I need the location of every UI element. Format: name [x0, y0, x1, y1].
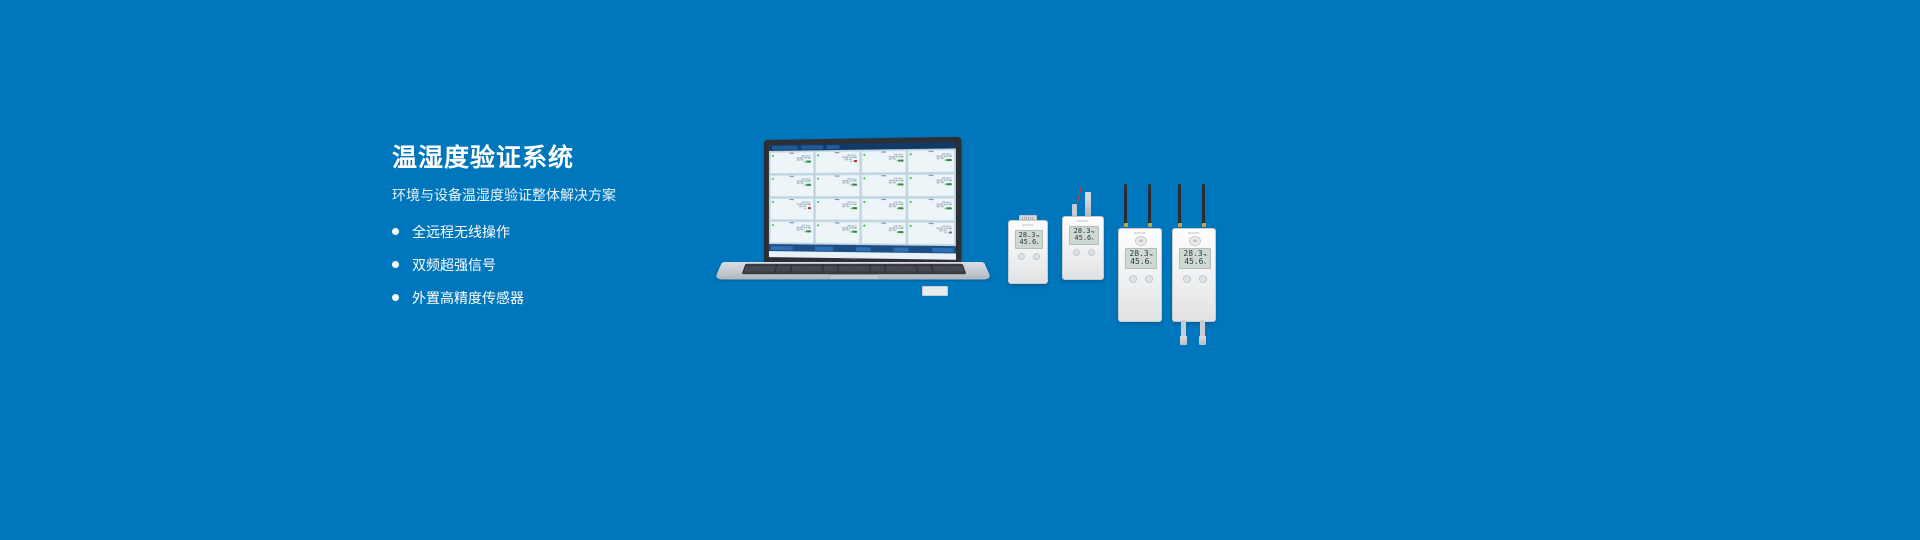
sensor-card[interactable]: 监测点温度28.3 ℃相对湿度45.6 %RH电量95%节点在线: [815, 198, 860, 221]
device-lcd-display: 28.3 ℃ 45.6 %: [1069, 226, 1099, 245]
antenna-icon: [1148, 184, 1151, 224]
sensor-card[interactable]: 监测点温度28.3 ℃相对湿度45.6 %RH电量95%节点在线: [815, 174, 860, 197]
sensor-row-value: 在线: [900, 186, 903, 188]
sensor-card[interactable]: 监测点温度28.3 ℃相对湿度45.6 %RH电量95%节点在线: [770, 151, 814, 174]
button-refresh[interactable]: [771, 246, 793, 250]
sensor-row-label: 节点: [896, 162, 899, 164]
sensor-card-row: 节点在线: [864, 233, 904, 236]
device-lcd-display: 28.3 ℃ 45.6 %: [1015, 230, 1043, 249]
button-settings[interactable]: [894, 247, 909, 251]
lcd-humidity-unit: %: [1204, 262, 1206, 265]
lcd-humidity-value: 45.6: [1074, 235, 1091, 242]
status-led-icon: [817, 224, 819, 226]
feature-label: 外置高精度传感器: [412, 288, 524, 308]
device-button-right[interactable]: [1199, 275, 1207, 283]
sensor-row-label: 电量: [939, 231, 942, 233]
sensor-row-label: 电量: [797, 184, 800, 186]
status-led-icon: [772, 178, 774, 180]
status-led-icon: [817, 178, 819, 180]
status-led-icon: [863, 154, 865, 156]
keyboard-key[interactable]: [759, 272, 774, 273]
laptop-spec-sticker: [922, 286, 948, 296]
sensor-card-row: 节点在线: [773, 186, 811, 188]
sensor-row-label: 节点: [896, 233, 899, 235]
sensor-card-row: 节点在线: [864, 186, 904, 188]
sensor-row-value: 在线: [853, 209, 856, 211]
sensor-row-value: 在线: [808, 163, 811, 165]
device-button-right[interactable]: [1088, 249, 1095, 256]
sensor-row-label: 节点: [896, 209, 899, 211]
page-title: 温湿度验证系统: [392, 143, 722, 173]
sensor-card-row: 节点在线: [773, 209, 811, 211]
feature-list: 全远程无线操作 双频超强信号 外置高精度传感器: [392, 222, 722, 308]
lcd-humidity-value: 45.6: [1184, 258, 1203, 266]
button-export[interactable]: [815, 246, 833, 250]
device-button-left[interactable]: [1073, 249, 1080, 256]
lcd-temperature-unit: ℃: [1091, 231, 1094, 234]
keyboard-key[interactable]: [902, 272, 917, 273]
page-subtitle: 环境与设备温湿度验证整体解决方案: [392, 187, 722, 204]
sensor-row-label: 节点: [804, 163, 807, 165]
antenna-icon: [1124, 184, 1127, 224]
sensor-row-label: 节点: [944, 210, 947, 212]
status-led-icon: [772, 224, 774, 226]
sensor-row-value: 在线: [853, 186, 856, 188]
device-body: ENKON 28.3 ℃ 45.6 %: [1008, 220, 1048, 284]
sensor-row-label: 电量: [936, 207, 939, 209]
laptop-screen: 监测点温度28.3 ℃相对湿度45.6 %RH电量95%节点在线监测点温度28.…: [769, 142, 956, 260]
lcd-humidity-unit: %: [1037, 242, 1039, 245]
keyboard-key[interactable]: [934, 272, 949, 273]
device-body: ENKON 28.3 ℃ 45.6 %: [1172, 228, 1216, 322]
sensor-row-label: 电量: [936, 159, 939, 161]
lcd-humidity-unit: %: [1092, 238, 1094, 241]
probe-sensor-cap: [1085, 192, 1091, 216]
device-wireless-logger-right: ENKON 28.3 ℃ 45.6 %: [1172, 186, 1216, 322]
sensor-row-label: 节点: [804, 209, 807, 211]
sensor-card-row: 节点在线: [911, 233, 952, 236]
sensor-card-row: 节点在线: [818, 162, 857, 165]
sensor-card[interactable]: 监测点温度28.3 ℃相对湿度45.6 %RH电量95%节点在线: [861, 221, 907, 244]
sensor-row-value: 在线: [900, 233, 903, 235]
probe-tip-left: [1180, 336, 1187, 345]
sensor-card-grid: 监测点温度28.3 ℃相对湿度45.6 %RH电量95%节点在线监测点温度28.…: [769, 148, 956, 246]
sensor-card[interactable]: 监测点温度28.3 ℃相对湿度45.6 %RH电量95%节点在线: [908, 149, 955, 172]
sensor-card-row: 节点在线: [818, 233, 857, 236]
sensor-row-label: 电量: [797, 230, 800, 232]
feature-item-1: 全远程无线操作: [392, 222, 722, 242]
keyboard-key[interactable]: [886, 272, 901, 273]
button-close[interactable]: [932, 247, 954, 251]
device-button-left[interactable]: [1183, 275, 1191, 283]
device-button-left[interactable]: [1129, 275, 1137, 283]
status-led-icon: [863, 201, 865, 203]
sensor-card[interactable]: 监测点温度28.3 ℃相对湿度45.6 %RH电量95%节点在线: [770, 221, 814, 244]
sensor-card[interactable]: 监测点温度28.3 ℃相对湿度45.6 %RH电量95%节点在线: [815, 151, 860, 174]
probe-connector: [1072, 204, 1077, 216]
sensor-row-label: 节点: [849, 162, 852, 164]
sensor-row-label: 电量: [889, 207, 892, 209]
sensor-row-label: 节点: [944, 234, 947, 236]
sensor-card[interactable]: 监测点温度28.3 ℃相对湿度45.6 %RH电量95%节点在线: [815, 221, 860, 244]
probe-tip-right: [1199, 336, 1206, 345]
promo-banner: 温湿度验证系统 环境与设备温湿度验证整体解决方案 全远程无线操作 双频超强信号 …: [0, 0, 1920, 540]
status-led-icon: [863, 177, 865, 179]
sensor-card[interactable]: 监测点温度28.3 ℃相对湿度45.6 %RH电量95%节点在线: [908, 222, 955, 245]
sensor-row-label: 电量: [842, 184, 845, 186]
antenna-icon: [1178, 184, 1181, 224]
sensor-row-label: 节点: [804, 186, 807, 188]
device-wireless-logger-left: ENKON 28.3 ℃ 45.6 %: [1118, 186, 1162, 322]
laptop-keyboard[interactable]: [742, 264, 967, 274]
device-brand-label: ENKON: [1119, 232, 1161, 235]
tab-report[interactable]: [826, 145, 839, 149]
sensor-row-value: 在线: [948, 234, 951, 236]
sensor-row-label: 节点: [944, 161, 947, 163]
device-button-right[interactable]: [1033, 253, 1040, 260]
laptop-illustration: 监测点温度28.3 ℃相对湿度45.6 %RH电量95%节点在线监测点温度28.…: [722, 140, 992, 300]
lcd-temperature-unit: ℃: [1036, 235, 1039, 238]
banner-copy: 温湿度验证系统 环境与设备温湿度验证整体解决方案 全远程无线操作 双频超强信号 …: [392, 143, 722, 321]
lcd-humidity-unit: %: [1150, 262, 1152, 265]
device-brand-label: ENKON: [1063, 220, 1103, 223]
sensor-card-row: 节点在线: [818, 186, 857, 188]
keyboard-key[interactable]: [775, 272, 790, 273]
keyboard-key[interactable]: [791, 272, 806, 273]
hanger-hole-icon: [1135, 236, 1147, 246]
sensor-card-row: 节点在线: [864, 209, 904, 211]
device-data-logger-external-probe: ENKON 28.3 ℃ 45.6 %: [1062, 214, 1104, 280]
antenna-icon: [1202, 184, 1205, 224]
sensor-row-value: 在线: [948, 161, 951, 163]
sensor-card-row: 节点在线: [911, 185, 952, 187]
bullet-dot-icon: [392, 228, 399, 235]
sensor-row-label: 节点: [849, 209, 852, 211]
status-led-icon: [817, 201, 819, 203]
lcd-humidity-value: 45.6: [1019, 239, 1036, 246]
sensor-card-row: 节点在线: [818, 209, 857, 211]
device-brand-label: ENKON: [1173, 232, 1215, 235]
sensor-card-row: 节点在线: [773, 163, 811, 166]
sensor-row-value: 在线: [948, 185, 951, 187]
device-brand-label: ENKON: [1009, 224, 1047, 227]
sensor-row-label: 节点: [804, 233, 807, 235]
feature-label: 全远程无线操作: [412, 222, 510, 242]
device-lcd-display: 28.3 ℃ 45.6 %: [1125, 248, 1157, 269]
feature-label: 双频超强信号: [412, 255, 496, 275]
sensor-row-label: 电量: [842, 231, 845, 233]
status-led-icon: [863, 225, 865, 227]
sensor-row-label: 节点: [849, 233, 852, 235]
feature-item-3: 外置高精度传感器: [392, 288, 722, 308]
sensor-card-row: 节点在线: [773, 232, 811, 235]
lcd-humidity-value: 45.6: [1130, 258, 1149, 266]
tab-history[interactable]: [801, 145, 823, 149]
device-lcd-display: 28.3 ℃ 45.6 %: [1179, 248, 1211, 269]
sensor-row-value: 在线: [900, 209, 903, 211]
bullet-dot-icon: [392, 261, 399, 268]
sensor-row-label: 电量: [799, 207, 802, 209]
sensor-card[interactable]: 监测点温度28.3 ℃相对湿度45.6 %RH电量95%节点在线: [908, 198, 955, 221]
button-print[interactable]: [856, 247, 871, 251]
sensor-row-label: 电量: [889, 160, 892, 162]
sensor-row-label: 电量: [889, 183, 892, 185]
sensor-card[interactable]: 监测点温度28.3 ℃相对湿度45.6 %RH电量95%节点在线: [861, 198, 907, 221]
laptop-trackpad[interactable]: [829, 274, 880, 279]
keyboard-key[interactable]: [743, 272, 759, 273]
sensor-card[interactable]: 监测点温度28.3 ℃相对湿度45.6 %RH电量95%节点在线: [861, 174, 907, 197]
sensor-row-label: 电量: [797, 161, 800, 163]
sensor-card[interactable]: 监测点温度28.3 ℃相对湿度45.6 %RH电量95%节点在线: [861, 150, 907, 173]
sensor-row-label: 节点: [849, 186, 852, 188]
lcd-temperature-unit: ℃: [1203, 254, 1206, 257]
sensor-card[interactable]: 监测点温度28.3 ℃相对湿度45.6 %RH电量95%节点在线: [770, 175, 814, 197]
device-button-left[interactable]: [1018, 253, 1025, 260]
status-led-icon: [772, 155, 774, 157]
device-body: ENKON 28.3 ℃ 45.6 %: [1118, 228, 1162, 322]
sensor-row-value: 在线: [808, 186, 811, 188]
sensor-row-value: 在线: [808, 233, 811, 235]
sensor-row-label: 电量: [842, 207, 845, 209]
laptop-lid: 监测点温度28.3 ℃相对湿度45.6 %RH电量95%节点在线监测点温度28.…: [764, 137, 961, 267]
lcd-temperature-unit: ℃: [1149, 254, 1152, 257]
sensor-row-value: 在线: [853, 162, 856, 164]
tab-realtime[interactable]: [772, 145, 798, 149]
sensor-row-value: 在线: [900, 162, 903, 164]
keyboard-key[interactable]: [918, 272, 933, 273]
laptop-base: [722, 260, 992, 290]
laptop-keyboard-deck: [715, 262, 992, 279]
sensor-row-label: 电量: [936, 183, 939, 185]
feature-item-2: 双频超强信号: [392, 255, 722, 275]
device-group: ENKON 28.3 ℃ 45.6 %: [1000, 176, 1260, 316]
sensor-card-row: 节点在线: [911, 209, 952, 211]
status-led-icon: [817, 154, 819, 156]
monitoring-app-bottom-toolbar: [769, 244, 956, 253]
sensor-card-row: 节点在线: [911, 161, 952, 164]
sensor-card[interactable]: 监测点温度28.3 ℃相对湿度45.6 %RH电量95%节点在线: [908, 174, 955, 197]
device-button-right[interactable]: [1145, 275, 1153, 283]
device-body: ENKON 28.3 ℃ 45.6 %: [1062, 216, 1104, 280]
sensor-row-value: 在线: [808, 209, 811, 211]
sensor-row-label: 节点: [944, 185, 947, 187]
sensor-row-value: 在线: [853, 233, 856, 235]
hanger-hole-icon: [1189, 236, 1201, 246]
sensor-row-label: 电量: [845, 160, 848, 162]
sensor-card[interactable]: 监测点温度28.3 ℃相对湿度45.6 %RH电量95%节点在线: [770, 198, 814, 220]
bullet-dot-icon: [392, 294, 399, 301]
sensor-row-label: 节点: [896, 186, 899, 188]
sensor-card-row: 节点在线: [864, 162, 904, 165]
keyboard-key[interactable]: [807, 272, 822, 273]
sensor-row-label: 电量: [889, 231, 892, 233]
device-data-logger-basic: ENKON 28.3 ℃ 45.6 %: [1008, 220, 1048, 284]
status-led-icon: [772, 201, 774, 203]
sensor-row-value: 在线: [948, 210, 951, 212]
keyboard-key[interactable]: [950, 272, 966, 273]
